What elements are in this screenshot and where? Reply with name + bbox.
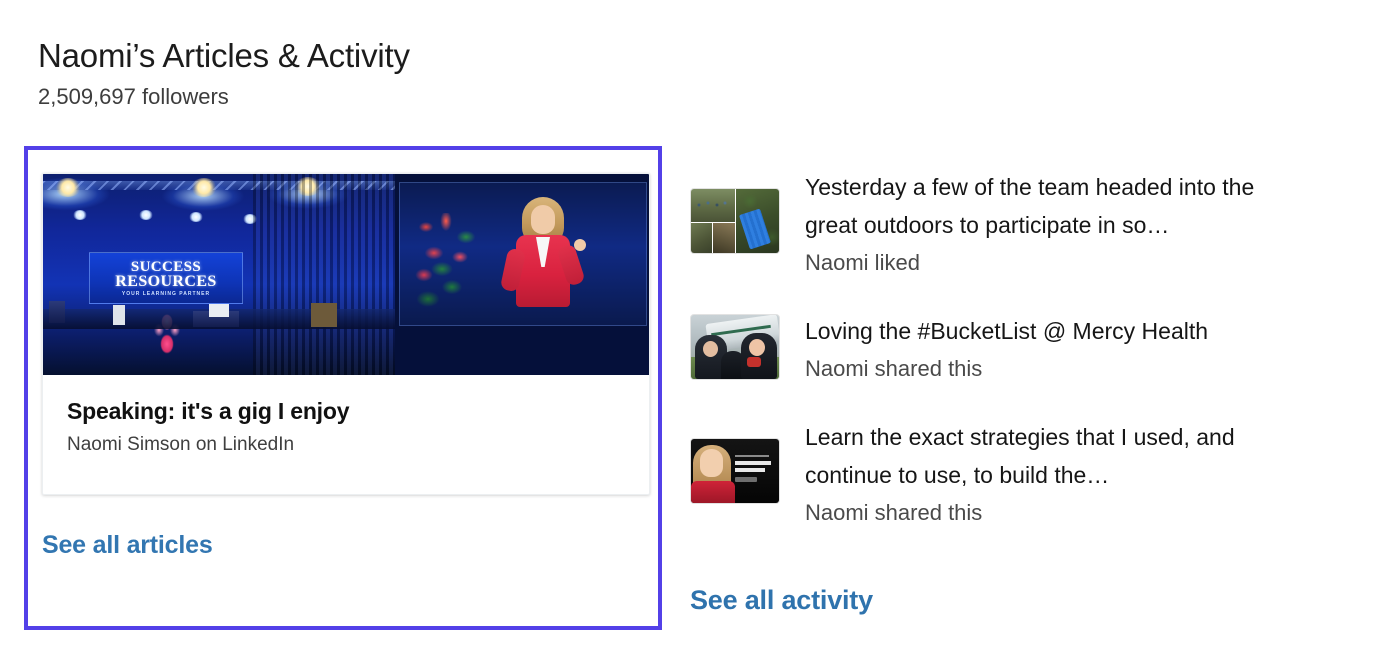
- article-title: Speaking: it's a gig I enjoy: [67, 397, 625, 425]
- articles-panel-highlight: SUCCESS RESOURCES YOUR LEARNING PARTNER: [24, 146, 662, 630]
- collage-outdoor-photo: [735, 189, 780, 253]
- collage-left-column: [691, 189, 735, 253]
- conference-stage-photo: SUCCESS RESOURCES YOUR LEARNING PARTNER: [43, 174, 649, 375]
- activity-item-body: Learn the exact strategies that I used, …: [805, 418, 1370, 532]
- overlay-button: [735, 477, 757, 482]
- article-card-text: Speaking: it's a gig I enjoy Naomi Simso…: [43, 375, 649, 458]
- see-all-activity-link[interactable]: See all activity: [690, 585, 873, 616]
- speaker-face: [531, 205, 555, 234]
- stage-light-beam: [73, 210, 87, 220]
- article-card[interactable]: SUCCESS RESOURCES YOUR LEARNING PARTNER: [42, 173, 650, 495]
- stage-crate: [311, 303, 337, 327]
- stage-light-beam: [139, 210, 153, 220]
- overlay-line-1: [735, 455, 769, 457]
- list-item[interactable]: Loving the #BucketList @ Mercy Health Na…: [690, 312, 1370, 388]
- overlay-line-2: [735, 461, 771, 465]
- thumbnail-bucketlist-photo[interactable]: [690, 314, 780, 380]
- list-item[interactable]: Learn the exact strategies that I used, …: [690, 418, 1370, 532]
- collage-photo-small-1: [691, 223, 713, 253]
- speaker-hand: [574, 239, 586, 251]
- projection-screen: [399, 182, 647, 326]
- video-person-red-blazer: [691, 481, 735, 504]
- video-title-overlay: [735, 455, 773, 485]
- stage-light-beam: [189, 212, 203, 222]
- thumbnail-outdoors-collage[interactable]: [690, 188, 780, 254]
- see-all-articles-link[interactable]: See all articles: [42, 531, 213, 560]
- activity-title: Yesterday a few of the team headed into …: [805, 168, 1305, 244]
- activity-title: Loving the #BucketList @ Mercy Health: [805, 312, 1305, 350]
- activity-title: Learn the exact strategies that I used, …: [805, 418, 1305, 494]
- audience-crowd: [43, 331, 649, 375]
- activity-item-body: Yesterday a few of the team headed into …: [805, 168, 1370, 282]
- activity-meta: Naomi liked: [805, 244, 1370, 282]
- stage-chair: [113, 305, 125, 325]
- list-item[interactable]: Yesterday a few of the team headed into …: [690, 168, 1370, 282]
- activity-list: Yesterday a few of the team headed into …: [690, 168, 1370, 562]
- led-screen-tagline: YOUR LEARNING PARTNER: [122, 291, 210, 297]
- led-screen-line2: RESOURCES: [115, 274, 216, 289]
- projected-flowers: [408, 213, 482, 313]
- collage-photo-small-2: [713, 223, 734, 253]
- photo-face-right: [749, 339, 765, 356]
- led-screen: SUCCESS RESOURCES YOUR LEARNING PARTNER: [89, 252, 243, 304]
- collage-group-photo: [691, 189, 735, 223]
- collage-bottom-row: [691, 223, 735, 253]
- activity-meta: Naomi shared this: [805, 494, 1370, 532]
- activity-item-body: Loving the #BucketList @ Mercy Health Na…: [805, 312, 1370, 388]
- activity-meta: Naomi shared this: [805, 350, 1370, 388]
- video-person-face: [700, 449, 723, 477]
- collage-grid: [691, 189, 779, 253]
- photo-red-scarf: [747, 357, 761, 367]
- stage-podium: [49, 301, 65, 323]
- stage-spotlight: [55, 178, 81, 197]
- profile-section-header: Naomi’s Articles & Activity 2,509,697 fo…: [38, 36, 410, 112]
- overlay-line-3: [735, 468, 765, 472]
- article-subtitle: Naomi Simson on LinkedIn: [67, 432, 625, 458]
- followers-count: 2,509,697 followers: [38, 82, 410, 112]
- page-title: Naomi’s Articles & Activity: [38, 36, 410, 76]
- photo-face-left: [703, 341, 718, 357]
- thumbnail-business-brand-video[interactable]: [690, 438, 780, 504]
- blue-object: [738, 208, 770, 249]
- stage-spotlight: [191, 178, 217, 197]
- projected-speaker: [500, 197, 584, 323]
